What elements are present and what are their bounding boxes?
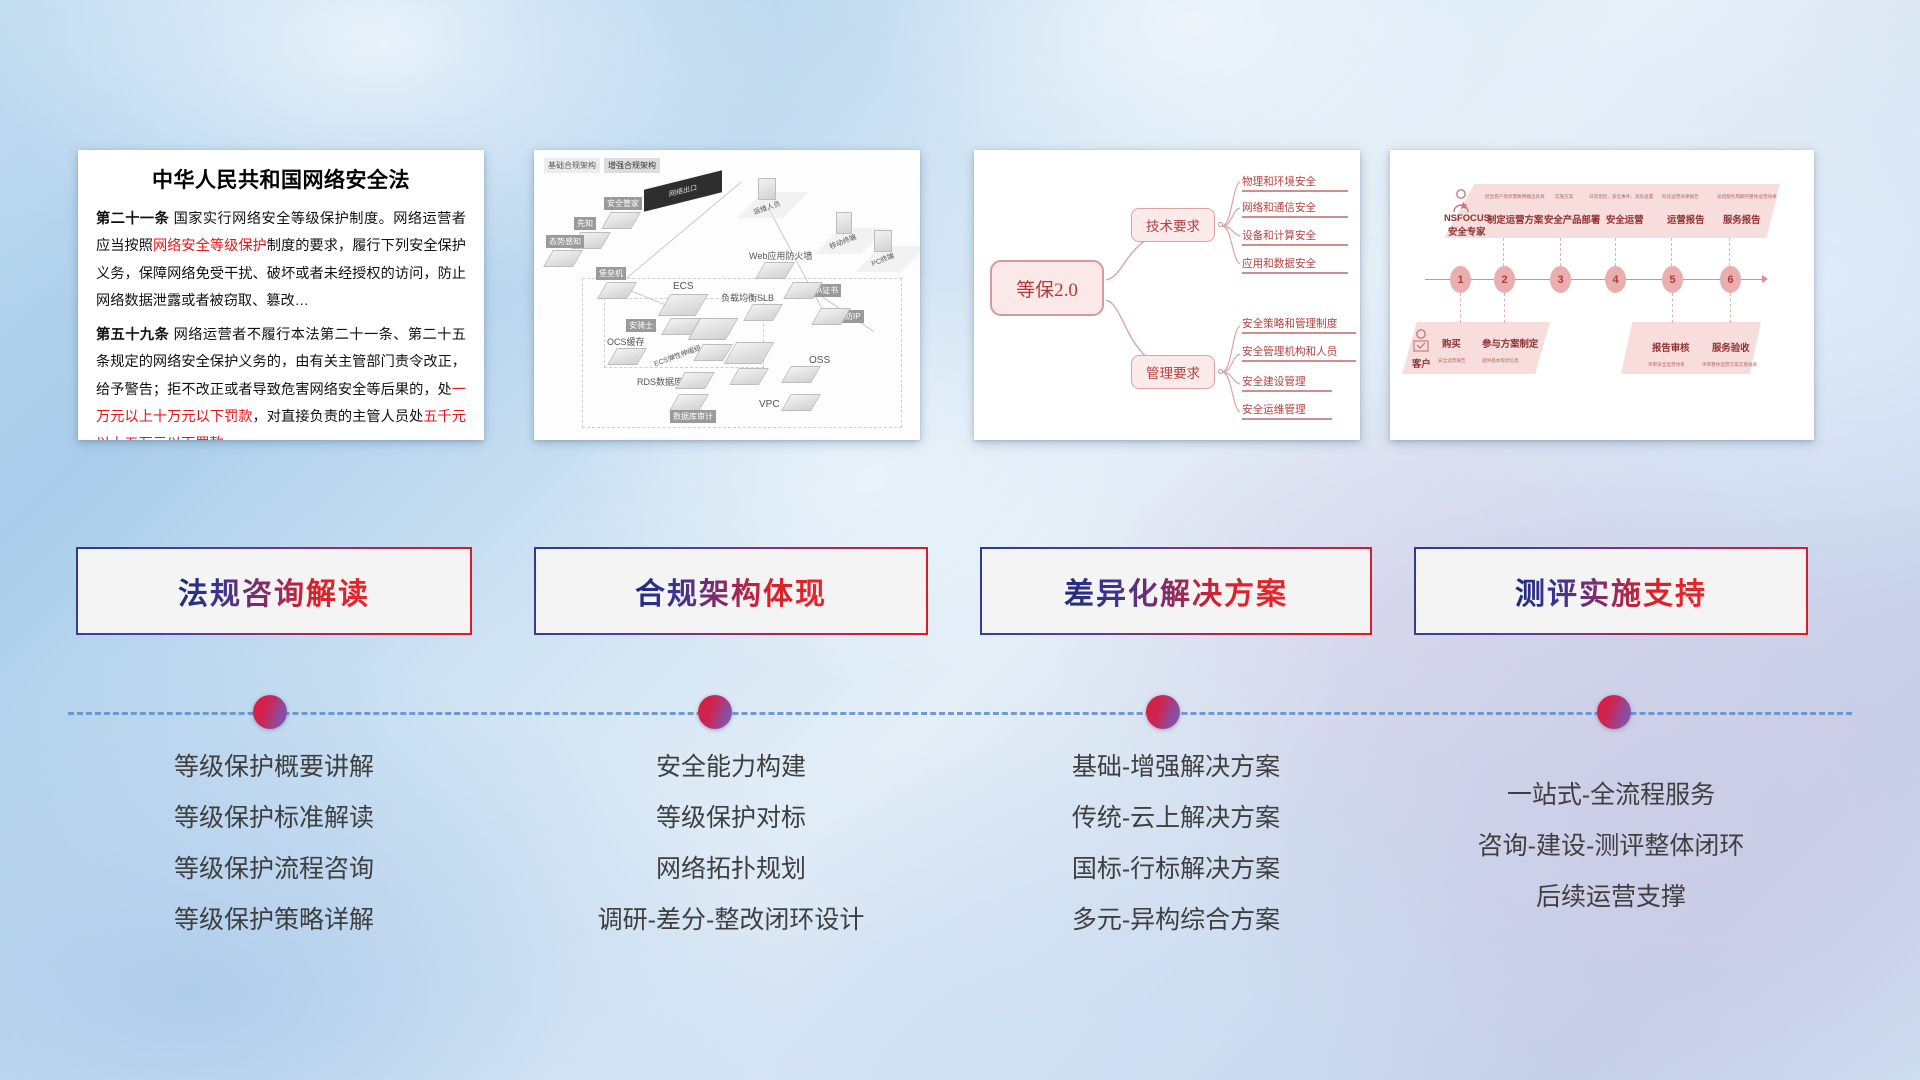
process-node[interactable]: 5 — [1662, 266, 1683, 293]
expert-person-icon — [1450, 188, 1472, 214]
architecture-node-label: 先知 — [574, 217, 596, 230]
architecture-node-mobile: 移动终端 — [836, 212, 852, 234]
mindmap-leaf-underline — [1242, 216, 1348, 218]
architecture-node-situation-awareness: 态势感知 — [542, 246, 578, 267]
mindmap-leaf: 安全建设管理 — [1242, 374, 1306, 389]
architecture-node-ops-user: 运维人员 — [758, 178, 776, 200]
list-item: 网络拓扑规划 — [534, 844, 928, 895]
architecture-node-label: 数据库审计 — [670, 410, 716, 423]
timeline-dot-1[interactable] — [253, 695, 287, 729]
process-step-title: 运营报告 — [1667, 212, 1705, 226]
law-text-body: 中华人民共和国网络安全法 第二十一条 国家实行网络安全等级保护制度。网络运营者应… — [78, 150, 484, 440]
process-step-title: 安全运营 — [1606, 212, 1644, 226]
list-item: 等级保护对标 — [534, 793, 928, 844]
detail-list-compliance-architecture: 安全能力构建 等级保护对标 网络拓扑规划 调研-差分-整改闭环设计 — [534, 742, 928, 946]
architecture-node-label: 堡垒机 — [596, 267, 626, 280]
mindmap-leaf: 物理和环境安全 — [1242, 174, 1316, 189]
process-step-sub: 阶段运营效果报告 — [1662, 194, 1699, 200]
process-dash-connector — [1730, 293, 1731, 323]
list-item: 等级保护概要讲解 — [76, 742, 472, 793]
headline-box-row: 法规咨询解读 合规架构体现 差异化解决方案 测评实施支持 — [0, 547, 1920, 639]
architecture-node-ecs-2 — [730, 342, 768, 385]
architecture-node-db-audit: 数据库审计 — [674, 394, 704, 411]
mindmap-leaf: 安全运维管理 — [1242, 402, 1306, 417]
timeline-dashed-line — [68, 712, 1852, 715]
mindmap-leaf: 应用和数据安全 — [1242, 256, 1316, 271]
mindmap-branch-technical: 技术要求 — [1131, 208, 1215, 242]
process-step-sub: 实施方案 — [1555, 194, 1573, 200]
architecture-node-label: VPC — [756, 398, 783, 411]
process-axis-arrow-icon — [1762, 275, 1768, 283]
headline-label: 合规架构体现 — [635, 569, 827, 613]
card-nsfocus-process[interactable]: NSFOCUS 安全专家 结合客户现状需要明确出具具 制定运营方案 实施方案 安… — [1390, 150, 1814, 440]
headline-box-compliance-architecture[interactable]: 合规架构体现 — [534, 547, 928, 635]
process-step-title: 服务报告 — [1723, 212, 1761, 226]
process-band-expert — [1444, 184, 1780, 238]
timeline-dot-4[interactable] — [1597, 695, 1631, 729]
mindmap-collapse-icon[interactable] — [1218, 222, 1223, 227]
process-node[interactable]: 2 — [1494, 266, 1515, 293]
process-step-sub: 评审整体运营方案实施效果 — [1702, 362, 1757, 368]
process-node[interactable]: 3 — [1550, 266, 1571, 293]
architecture-node-waf: Web应用防火墙 — [746, 260, 790, 279]
mindmap-leaf-underline — [1242, 272, 1348, 274]
architecture-node-label: 安骑士 — [626, 319, 656, 332]
thumbnail-card-row: 中华人民共和国网络安全法 第二十一条 国家实行网络安全等级保护制度。网络运营者应… — [0, 150, 1920, 450]
law-title: 中华人民共和国网络安全法 — [96, 164, 466, 194]
architecture-node-ecs: ECS — [656, 292, 702, 316]
detail-list-assessment-support: 一站式-全流程服务 咨询-建设-测评整体闭环 后续运营支撑 — [1414, 742, 1808, 923]
mindmap-branch-management: 管理要求 — [1131, 355, 1215, 389]
process-step-sub: 安全运营报告 — [1438, 358, 1466, 364]
architecture-node-security-butler: 安全管家 — [592, 208, 636, 229]
headline-label: 测评实施支持 — [1515, 569, 1707, 613]
list-item: 调研-差分-整改闭环设计 — [534, 895, 928, 946]
mindmap-leaf-underline — [1242, 418, 1332, 420]
architecture-node-bastion: 堡垒机 — [596, 278, 632, 299]
process-axis-line — [1425, 279, 1765, 280]
process-step-title: 报告审核 — [1652, 340, 1690, 354]
mindmap-leaf: 设备和计算安全 — [1242, 228, 1316, 243]
architecture-node-vpc: VPC — [756, 394, 816, 411]
list-item: 咨询-建设-测评整体闭环 — [1414, 821, 1808, 872]
architecture-node-label: ECS — [670, 280, 697, 293]
process-step-sub: 总结服务周期内整体运营效果 — [1717, 194, 1777, 200]
architecture-node-label: 态势感知 — [546, 235, 584, 248]
architecture-node-ca: CA证书 — [788, 282, 818, 299]
process-dash-connector — [1615, 238, 1616, 266]
mindmap-leaf: 网络和通信安全 — [1242, 200, 1316, 215]
mindmap-leaf: 安全管理机构和人员 — [1242, 344, 1337, 359]
process-dash-connector — [1671, 238, 1672, 266]
process-dash-connector — [1503, 238, 1504, 266]
process-node[interactable]: 6 — [1720, 266, 1741, 293]
headline-box-regulation-consulting[interactable]: 法规咨询解读 — [76, 547, 472, 635]
detail-list-differentiated-solutions: 基础-增强解决方案 传统-云上解决方案 国标-行标解决方案 多元-异构综合方案 — [980, 742, 1372, 946]
mindmap-leaf-underline — [1242, 390, 1332, 392]
expert-label-line2: 安全专家 — [1448, 224, 1486, 238]
architecture-node-slb: 负载均衡SLB — [746, 302, 778, 321]
law-article-21: 第二十一条 国家实行网络安全等级保护制度。网络运营者应当按照网络安全等级保护制度… — [96, 206, 466, 315]
process-step-title: 服务验收 — [1712, 340, 1750, 354]
detail-list-regulation-consulting: 等级保护概要讲解 等级保护标准解读 等级保护流程咨询 等级保护策略详解 — [76, 742, 472, 946]
list-item: 等级保护流程咨询 — [76, 844, 472, 895]
headline-label: 法规咨询解读 — [178, 569, 370, 613]
process-dash-connector — [1560, 238, 1561, 266]
process-step-sub: 评审安全运营效果 — [1648, 362, 1685, 368]
list-item: 等级保护策略详解 — [76, 895, 472, 946]
mindmap-leaf-underline — [1242, 244, 1348, 246]
customer-label: 客户 — [1412, 356, 1431, 370]
architecture-diagram: 基础合规架构 增强合规架构 网络出口 安全管家 — [534, 150, 920, 440]
headline-label: 差异化解决方案 — [1064, 569, 1288, 613]
process-step-sub: 结合客户现状需要明确出具具 — [1485, 194, 1545, 200]
architecture-node-label: 负载均衡SLB — [718, 290, 777, 305]
mindmap-leaf: 安全策略和管理制度 — [1242, 316, 1337, 331]
card-compliance-architecture[interactable]: 基础合规架构 增强合规架构 网络出口 安全管家 — [534, 150, 920, 440]
list-item: 安全能力构建 — [534, 742, 928, 793]
card-mindmap-dengbao[interactable]: 等保2.0 技术要求 物理和环境安全 网络和通信安全 设备和计算安全 应用和数据… — [974, 150, 1360, 440]
law-article-59-part2: ，对直接负责的主管人员处 — [253, 409, 424, 425]
process-step-title: 购买 — [1442, 336, 1461, 350]
architecture-node-oss: OSS — [782, 364, 816, 383]
headline-box-differentiated-solutions[interactable]: 差异化解决方案 — [980, 547, 1372, 635]
architecture-node-ocs: OCS缓存 — [604, 346, 642, 365]
architecture-node-label: OCS缓存 — [604, 334, 648, 349]
list-item: 多元-异构综合方案 — [980, 895, 1372, 946]
process-timeline-diagram: NSFOCUS 安全专家 结合客户现状需要明确出具具 制定运营方案 实施方案 安… — [1390, 150, 1814, 440]
tab-basic-architecture[interactable]: 基础合规架构 — [544, 158, 600, 173]
process-step-sub: 日常巡检、安全事件、高危处置 — [1589, 194, 1653, 200]
architecture-node-label: 安全管家 — [604, 197, 642, 210]
list-item: 传统-云上解决方案 — [980, 793, 1372, 844]
tab-enhanced-architecture[interactable]: 增强合规架构 — [604, 158, 660, 173]
architecture-node-label: Web应用防火墙 — [746, 248, 815, 263]
law-article-21-highlight: 网络安全等级保护 — [153, 238, 267, 254]
architecture-tabs: 基础合规架构 增强合规架构 — [544, 158, 660, 173]
architecture-node-rds: RDS数据库 — [638, 372, 710, 389]
law-article-59-label: 第五十九条 — [96, 327, 169, 343]
list-item: 基础-增强解决方案 — [980, 742, 1372, 793]
timeline — [0, 693, 1920, 733]
headline-box-assessment-support[interactable]: 测评实施支持 — [1414, 547, 1808, 635]
architecture-node-anqishi: 安骑士 — [626, 318, 696, 335]
mindmap-root: 等保2.0 — [990, 260, 1104, 316]
architecture-node-pc: PC终端 — [874, 230, 892, 252]
customer-person-icon — [1410, 328, 1432, 354]
law-article-21-label: 第二十一条 — [96, 211, 169, 227]
process-node[interactable]: 4 — [1605, 266, 1626, 293]
process-dash-connector — [1672, 293, 1673, 323]
mindmap-leaf-underline — [1242, 360, 1356, 362]
architecture-node-ecs-scaling: ECS弹性伸缩组 — [694, 318, 732, 361]
process-dash-connector — [1504, 293, 1505, 323]
expert-label-line1: NSFOCUS — [1444, 212, 1490, 223]
law-article-59: 第五十九条 网络运营者不履行本法第二十一条、第二十五条规定的网络安全保护义务的，… — [96, 322, 466, 440]
process-dash-connector — [1460, 293, 1461, 323]
mindmap-collapse-icon[interactable] — [1218, 369, 1223, 374]
architecture-node-anti-ddos: 高防IP — [816, 308, 846, 325]
timeline-dot-2[interactable] — [698, 695, 732, 729]
timeline-dot-3[interactable] — [1146, 695, 1180, 729]
card-cybersecurity-law[interactable]: 中华人民共和国网络安全法 第二十一条 国家实行网络安全等级保护制度。网络运营者应… — [78, 150, 484, 440]
list-item: 国标-行标解决方案 — [980, 844, 1372, 895]
detail-list-row: 等级保护概要讲解 等级保护标准解读 等级保护流程咨询 等级保护策略详解 安全能力… — [0, 742, 1920, 982]
process-node[interactable]: 1 — [1450, 266, 1471, 293]
mindmap-leaf-underline — [1242, 332, 1356, 334]
process-dash-connector — [1729, 238, 1730, 266]
process-step-title: 安全产品部署 — [1544, 212, 1600, 226]
process-step-sub: 提供基本现状信息 — [1482, 358, 1519, 364]
list-item: 后续运营支撑 — [1414, 872, 1808, 923]
mindmap: 等保2.0 技术要求 物理和环境安全 网络和通信安全 设备和计算安全 应用和数据… — [974, 150, 1360, 440]
list-item: 等级保护标准解读 — [76, 793, 472, 844]
mindmap-leaf-underline — [1242, 190, 1348, 192]
list-item: 一站式-全流程服务 — [1414, 770, 1808, 821]
process-step-title: 参与方案制定 — [1482, 336, 1538, 350]
law-article-59-part3: 。 — [224, 436, 238, 440]
process-step-title: 制定运营方案 — [1487, 212, 1543, 226]
